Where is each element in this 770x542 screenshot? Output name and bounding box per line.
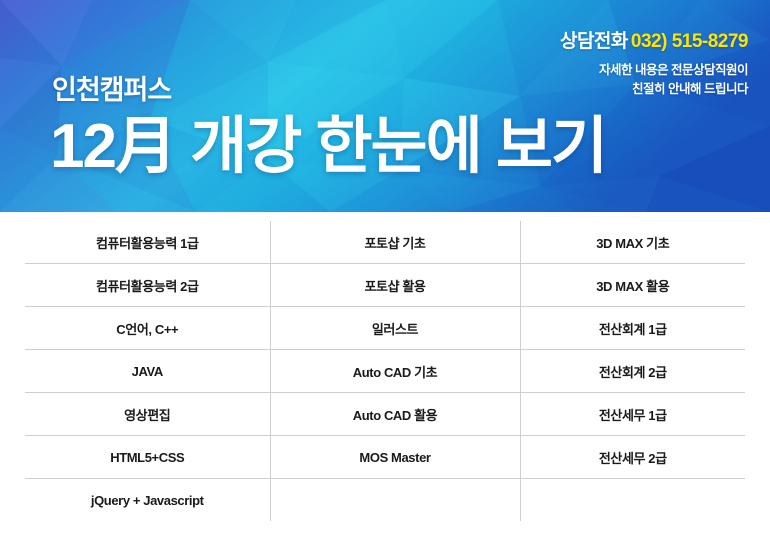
contact-label: 상담전화 <box>560 31 628 52</box>
course-cell[interactable]: 3D MAX 기초 <box>520 221 745 264</box>
course-cell[interactable]: C언어, C++ <box>25 307 270 350</box>
table-row[interactable]: 컴퓨터활용능력 2급 포토샵 활용 3D MAX 활용 <box>25 264 745 307</box>
course-cell[interactable]: JAVA <box>25 350 270 393</box>
contact-subtext-line-1: 자세한 내용은 전문상담직원이 <box>560 61 748 80</box>
course-cell-empty <box>270 479 520 522</box>
course-cell[interactable]: 3D MAX 활용 <box>520 264 745 307</box>
table-row[interactable]: jQuery + Javascript <box>25 479 745 522</box>
course-cell[interactable]: jQuery + Javascript <box>25 479 270 522</box>
course-cell[interactable]: 전산세무 1급 <box>520 393 745 436</box>
table-row[interactable]: 영상편집 Auto CAD 활용 전산세무 1급 <box>25 393 745 436</box>
course-cell[interactable]: 일러스트 <box>270 307 520 350</box>
course-cell[interactable]: 컴퓨터활용능력 2급 <box>25 264 270 307</box>
course-cell[interactable]: 포토샵 기초 <box>270 221 520 264</box>
course-cell[interactable]: 포토샵 활용 <box>270 264 520 307</box>
course-cell[interactable]: MOS Master <box>270 436 520 479</box>
table-row[interactable]: C언어, C++ 일러스트 전산회계 1급 <box>25 307 745 350</box>
promo-banner-page: 인천캠퍼스 12月 개강 한눈에 보기 상담전화032) 515-8279 자세… <box>0 0 770 542</box>
contact-subtext: 자세한 내용은 전문상담직원이 친절히 안내해 드립니다 <box>560 61 748 100</box>
course-cell[interactable]: 영상편집 <box>25 393 270 436</box>
course-cell[interactable]: 컴퓨터활용능력 1급 <box>25 221 270 264</box>
course-cell[interactable]: Auto CAD 활용 <box>270 393 520 436</box>
contact-subtext-line-2: 친절히 안내해 드립니다 <box>560 80 748 99</box>
course-cell[interactable]: Auto CAD 기초 <box>270 350 520 393</box>
banner-main-title: 12月 개강 한눈에 보기 <box>50 110 606 183</box>
course-table: 컴퓨터활용능력 1급 포토샵 기초 3D MAX 기초 컴퓨터활용능력 2급 포… <box>25 221 745 521</box>
table-row[interactable]: 컴퓨터활용능력 1급 포토샵 기초 3D MAX 기초 <box>25 221 745 264</box>
course-cell[interactable]: HTML5+CSS <box>25 436 270 479</box>
course-cell-empty <box>520 479 745 522</box>
course-cell[interactable]: 전산회계 1급 <box>520 307 745 350</box>
contact-phone-number[interactable]: 032) 515-8279 <box>631 31 748 52</box>
banner-content: 인천캠퍼스 12月 개강 한눈에 보기 상담전화032) 515-8279 자세… <box>0 0 770 212</box>
campus-label: 인천캠퍼스 <box>52 68 171 107</box>
table-row[interactable]: HTML5+CSS MOS Master 전산세무 2급 <box>25 436 745 479</box>
contact-phone-line: 상담전화032) 515-8279 <box>560 30 748 54</box>
course-cell[interactable]: 전산회계 2급 <box>520 350 745 393</box>
course-cell[interactable]: 전산세무 2급 <box>520 436 745 479</box>
contact-block: 상담전화032) 515-8279 자세한 내용은 전문상담직원이 친절히 안내… <box>560 30 748 100</box>
table-row[interactable]: JAVA Auto CAD 기초 전산회계 2급 <box>25 350 745 393</box>
header-banner: 인천캠퍼스 12月 개강 한눈에 보기 상담전화032) 515-8279 자세… <box>0 0 770 212</box>
course-table-section: 컴퓨터활용능력 1급 포토샵 기초 3D MAX 기초 컴퓨터활용능력 2급 포… <box>0 212 770 542</box>
